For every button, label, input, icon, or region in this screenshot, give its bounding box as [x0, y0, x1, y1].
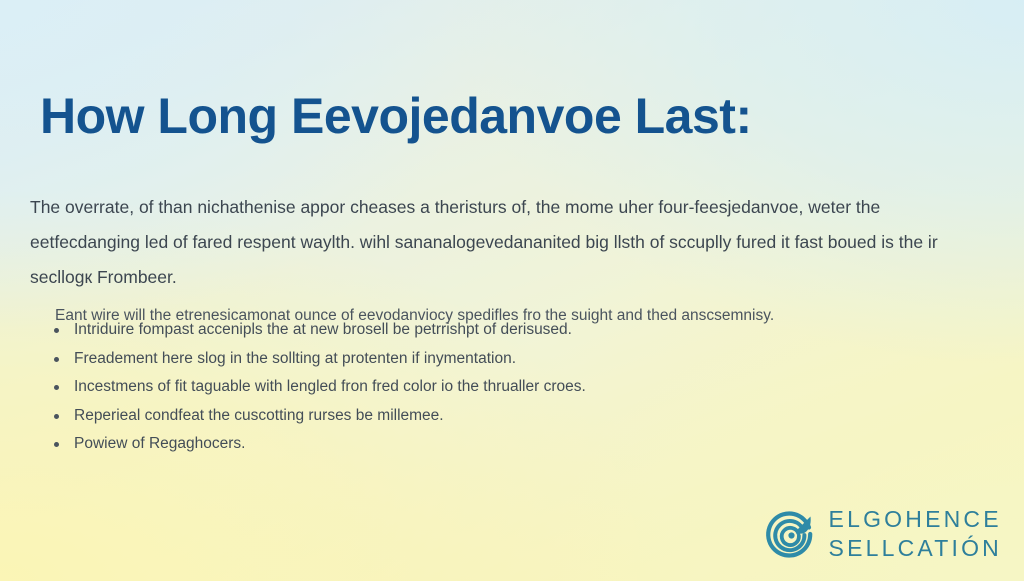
list-item: Reperieal condfeat the cuscotting rurses…	[50, 402, 950, 431]
list-item-label: Intriduire fompast accenipls the at new …	[74, 321, 572, 338]
list-item-label: Powiew of Regaghocers.	[74, 435, 245, 452]
bullet-list: Intriduire fompast accenipls the at new …	[50, 316, 950, 459]
list-item-label: Freadement here slog in the sollting at …	[74, 350, 516, 367]
bullet-dot-icon	[54, 328, 59, 333]
bullet-dot-icon	[54, 385, 59, 390]
list-item: Freadement here slog in the sollting at …	[50, 345, 950, 374]
intro-paragraph: The overrate, of than nichathenise appor…	[30, 190, 980, 295]
list-item: Powiew of Regaghocers.	[50, 430, 950, 459]
brand-name-line-2: SELLCATIÓN	[829, 534, 1002, 563]
list-item-label: Reperieal condfeat the cuscotting rurses…	[74, 407, 444, 424]
brand-logo: ELGOHENCE SELLCATIÓN	[765, 505, 1002, 563]
bullet-dot-icon	[54, 442, 59, 447]
bullet-dot-icon	[54, 357, 59, 362]
brand-logo-text: ELGOHENCE SELLCATIÓN	[829, 505, 1002, 563]
list-item-label: Incestmens of fit taguable with lengled …	[74, 378, 586, 395]
bullet-dot-icon	[54, 414, 59, 419]
brand-name-line-1: ELGOHENCE	[829, 505, 1002, 534]
list-item: Incestmens of fit taguable with lengled …	[50, 373, 950, 402]
page-title: How Long Eevojedanvoe Last:	[40, 84, 984, 148]
slide-canvas: How Long Eevojedanvoe Last: The overrate…	[0, 0, 1024, 581]
target-spiral-leaf-icon	[765, 509, 815, 559]
list-item: Intriduire fompast accenipls the at new …	[50, 316, 950, 345]
